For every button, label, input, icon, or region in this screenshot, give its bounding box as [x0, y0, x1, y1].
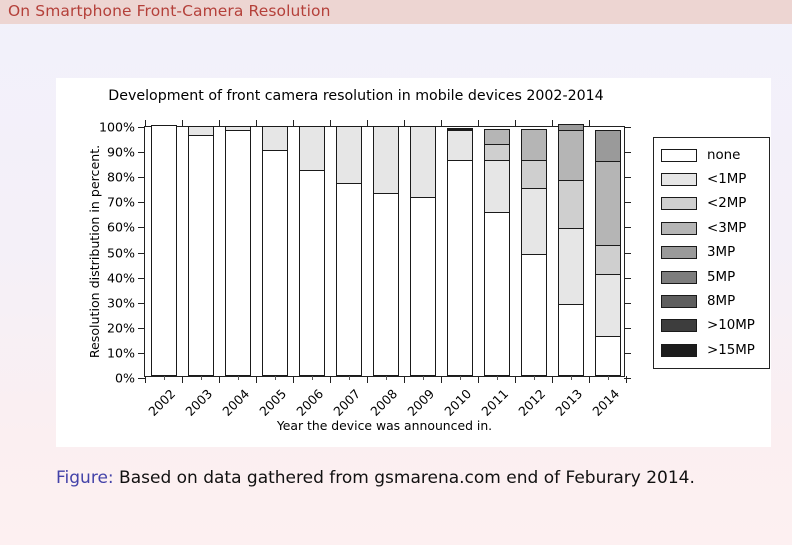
y-axis-tick-label: 10% [107, 345, 135, 360]
x-axis-tick-top [441, 120, 442, 127]
x-axis-minor-tick [423, 376, 424, 380]
bar-segment-2007-none [336, 183, 362, 376]
bar-2003 [188, 125, 214, 376]
bar-segment-2009-<1MP [410, 126, 436, 198]
legend-label: >15MP [707, 343, 755, 358]
bar-segment-2005-<1MP [262, 126, 288, 151]
chart-legend: none<1MP<2MP<3MP3MP5MP8MP>10MP>15MP [653, 137, 770, 369]
x-axis-minor-tick [497, 376, 498, 380]
y-axis-tick-right [624, 177, 631, 178]
legend-swatch-icon [661, 222, 697, 235]
y-axis-tick [138, 202, 145, 203]
y-axis-tick-label: 30% [107, 295, 135, 310]
legend-label: none [707, 148, 740, 163]
bar-segment-2012-<2MP [521, 160, 547, 189]
legend-label: 3MP [707, 245, 735, 260]
legend-item-8MP: 8MP [661, 289, 763, 313]
bar-2008 [373, 125, 399, 376]
y-axis-tick-label: 60% [107, 220, 135, 235]
x-axis-minor-tick [312, 376, 313, 380]
legend-swatch-icon [661, 197, 697, 210]
y-axis-tick-label: 20% [107, 320, 135, 335]
x-axis-tick-label: 2011 [478, 386, 511, 419]
bar-segment-2011-<3MP [484, 129, 510, 145]
y-axis-tick-right [624, 303, 631, 304]
x-axis-minor-tick [164, 376, 165, 380]
bar-segment-2013-<2MP [558, 180, 584, 230]
x-axis-tick [145, 376, 146, 383]
x-axis-minor-tick [201, 376, 202, 380]
x-axis-tick [441, 376, 442, 383]
legend-swatch-icon [661, 271, 697, 284]
figure-panel: Development of front camera resolution i… [56, 78, 771, 447]
x-axis-tick-top [330, 120, 331, 127]
legend-swatch-icon [661, 246, 697, 259]
bar-2002 [151, 125, 177, 376]
legend-item-3MP: <3MP [661, 216, 763, 240]
legend-label: <1MP [707, 172, 746, 187]
y-axis-tick [138, 353, 145, 354]
bar-segment-2009-none [410, 197, 436, 376]
x-axis-tick-top [367, 120, 368, 127]
x-axis-minor-tick [386, 376, 387, 380]
bar-segment-2003-none [188, 135, 214, 376]
x-axis-tick-top [478, 120, 479, 127]
bar-segment-2014-3MP [595, 130, 621, 163]
legend-label: <3MP [707, 221, 746, 236]
x-axis-tick-label: 2002 [145, 386, 178, 419]
y-axis-tick-right [624, 227, 631, 228]
x-axis-tick-top [256, 120, 257, 127]
legend-item-none: none [661, 143, 763, 167]
x-axis-minor-tick [238, 376, 239, 380]
y-axis-tick [138, 253, 145, 254]
x-axis-tick-label: 2008 [367, 386, 400, 419]
bar-segment-2014-<3MP [595, 161, 621, 246]
x-axis-minor-tick [534, 376, 535, 380]
y-axis-tick [138, 303, 145, 304]
bar-segment-2010-<1MP [447, 130, 473, 161]
bar-segment-2013-none [558, 304, 584, 376]
bar-2010 [447, 125, 473, 376]
bar-segment-2014-<2MP [595, 245, 621, 275]
y-axis-tick [138, 378, 145, 379]
bar-segment-2012-<1MP [521, 188, 547, 256]
y-axis-tick-label: 0% [115, 371, 135, 386]
bar-2014 [595, 125, 621, 376]
y-axis-tick-right [624, 152, 631, 153]
x-axis-tick [552, 376, 553, 383]
bar-segment-2014-none [595, 336, 621, 376]
bar-2009 [410, 125, 436, 376]
y-axis-tick [138, 227, 145, 228]
y-axis-tick-label: 40% [107, 270, 135, 285]
chart-title: Development of front camera resolution i… [56, 88, 656, 104]
plot-area: 0%10%20%30%40%50%60%70%80%90%100%2002200… [144, 126, 625, 377]
y-axis-tick [138, 127, 145, 128]
y-axis-tick-label: 50% [107, 245, 135, 260]
x-axis-tick-top [552, 120, 553, 127]
x-axis-tick-top [182, 120, 183, 127]
legend-label: <2MP [707, 196, 746, 211]
x-axis-tick-top [515, 120, 516, 127]
x-axis-tick-top [145, 120, 146, 127]
y-axis-tick-right [624, 253, 631, 254]
x-axis-tick-label: 2006 [293, 386, 326, 419]
bar-2005 [262, 125, 288, 376]
bar-2013 [558, 125, 584, 376]
x-axis-tick [626, 376, 627, 383]
x-axis-tick-label: 2009 [404, 386, 437, 419]
legend-label: 5MP [707, 270, 735, 285]
y-axis-tick [138, 328, 145, 329]
bar-2011 [484, 125, 510, 376]
x-axis-label: Year the device was announced in. [144, 418, 625, 433]
bar-segment-2002-none [151, 125, 177, 376]
bar-segment-2010-none [447, 160, 473, 376]
x-axis-tick [256, 376, 257, 383]
x-axis-tick-top [404, 120, 405, 127]
bar-segment-2013-<1MP [558, 228, 584, 305]
y-axis-tick [138, 278, 145, 279]
legend-swatch-icon [661, 319, 697, 332]
bar-segment-2011-none [484, 212, 510, 376]
x-axis-tick-top [219, 120, 220, 127]
bar-2007 [336, 125, 362, 376]
x-axis-tick [367, 376, 368, 383]
bar-segment-2008-<1MP [373, 126, 399, 194]
bar-segment-2006-<1MP [299, 126, 325, 171]
y-axis-tick-label: 100% [99, 120, 135, 135]
y-axis-tick-right [624, 127, 631, 128]
bar-segment-2013-<3MP [558, 130, 584, 181]
bar-segment-2004-none [225, 130, 251, 376]
slide-title: On Smartphone Front-Camera Resolution [8, 2, 331, 20]
y-axis-tick-right [624, 202, 631, 203]
x-axis-tick-top [589, 120, 590, 127]
x-axis-minor-tick [608, 376, 609, 380]
legend-item-15MP: >15MP [661, 338, 763, 362]
y-axis-tick-label: 70% [107, 195, 135, 210]
x-axis-tick [182, 376, 183, 383]
x-axis-tick-label: 2013 [552, 386, 585, 419]
x-axis-tick [404, 376, 405, 383]
y-axis-tick-right [624, 328, 631, 329]
bar-segment-2012-<3MP [521, 129, 547, 162]
bar-segment-2014-<1MP [595, 274, 621, 337]
x-axis-tick [293, 376, 294, 383]
y-axis-tick [138, 177, 145, 178]
bar-segment-2011-<1MP [484, 160, 510, 213]
x-axis-tick-label: 2010 [441, 386, 474, 419]
x-axis-tick-label: 2012 [515, 386, 548, 419]
x-axis-minor-tick [349, 376, 350, 380]
bar-2004 [225, 125, 251, 376]
x-axis-tick [330, 376, 331, 383]
y-axis-tick-right [624, 278, 631, 279]
legend-swatch-icon [661, 173, 697, 186]
x-axis-tick-top [293, 120, 294, 127]
y-axis-tick-label: 80% [107, 170, 135, 185]
legend-item-10MP: >10MP [661, 314, 763, 338]
figure-caption: Figure: Based on data gathered from gsma… [56, 466, 716, 491]
legend-label: 8MP [707, 294, 735, 309]
x-axis-tick-label: 2003 [182, 386, 215, 419]
slide-header-bar: On Smartphone Front-Camera Resolution [0, 0, 792, 24]
bar-segment-2012-none [521, 254, 547, 376]
y-axis-label-text: Resolution distribution in percent. [88, 145, 103, 358]
x-axis-minor-tick [460, 376, 461, 380]
x-axis-tick-label: 2005 [256, 386, 289, 419]
figure-caption-text: Based on data gathered from gsmarena.com… [119, 468, 695, 488]
legend-item-3MP: 3MP [661, 241, 763, 265]
bar-segment-2011-<2MP [484, 144, 510, 162]
bar-2012 [521, 125, 547, 376]
legend-item-2MP: <2MP [661, 192, 763, 216]
bar-segment-2008-none [373, 193, 399, 376]
x-axis-tick [515, 376, 516, 383]
legend-label: >10MP [707, 318, 755, 333]
legend-swatch-icon [661, 149, 697, 162]
x-axis-tick [478, 376, 479, 383]
y-axis-tick-label: 90% [107, 145, 135, 160]
y-axis-label: Resolution distribution in percent. [85, 126, 105, 377]
x-axis-tick [219, 376, 220, 383]
x-axis-tick-label: 2007 [330, 386, 363, 419]
x-axis-minor-tick [571, 376, 572, 380]
x-axis-minor-tick [275, 376, 276, 380]
y-axis-tick-right [624, 353, 631, 354]
x-axis-tick [589, 376, 590, 383]
x-axis-tick-label: 2014 [589, 386, 622, 419]
figure-caption-lead: Figure: [56, 468, 114, 488]
legend-swatch-icon [661, 344, 697, 357]
legend-item-1MP: <1MP [661, 167, 763, 191]
legend-swatch-icon [661, 295, 697, 308]
bar-segment-2005-none [262, 150, 288, 376]
bar-segment-2006-none [299, 170, 325, 376]
bar-2006 [299, 125, 325, 376]
legend-item-5MP: 5MP [661, 265, 763, 289]
y-axis-tick [138, 152, 145, 153]
bar-segment-2007-<1MP [336, 126, 362, 184]
x-axis-tick-label: 2004 [219, 386, 252, 419]
